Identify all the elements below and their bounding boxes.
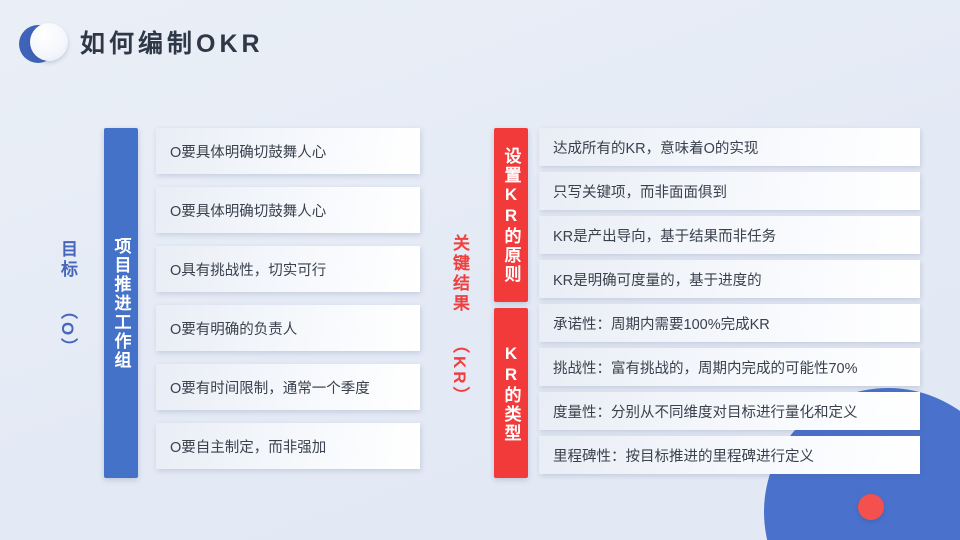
key-results-axis-label-paren: （KR） [450, 336, 469, 407]
objective-axis-label: 目标 （O） [52, 240, 82, 358]
objective-axis-label-paren: （O） [58, 302, 77, 358]
objective-band-label: 项目推进工作组 [109, 237, 134, 370]
list-item[interactable]: 只写关键项，而非面面俱到 [539, 172, 920, 210]
objective-band: 项目推进工作组 [104, 128, 138, 478]
logo-front-circle [30, 23, 68, 61]
list-item[interactable]: 挑战性：富有挑战的，周期内完成的可能性70% [539, 348, 920, 386]
objective-axis-label-text: 目标 [58, 240, 77, 280]
list-item[interactable]: O要有时间限制，通常一个季度 [156, 364, 420, 410]
list-item[interactable]: 度量性：分别从不同维度对目标进行量化和定义 [539, 392, 920, 430]
objective-item-list: O要具体明确切鼓舞人心 O要具体明确切鼓舞人心 O具有挑战性，切实可行 O要有明… [156, 128, 420, 469]
kr-types-band: KR的类型 [494, 308, 528, 478]
list-item[interactable]: 达成所有的KR，意味着O的实现 [539, 128, 920, 166]
slide-header: 如何编制OKR [0, 0, 960, 86]
list-item[interactable]: KR是产出导向，基于结果而非任务 [539, 216, 920, 254]
list-item[interactable]: 里程碑性：按目标推进的里程碑进行定义 [539, 436, 920, 474]
list-item[interactable]: O要有明确的负责人 [156, 305, 420, 351]
kr-principles-band-label: 设置KR的原则 [499, 147, 524, 284]
page-title: 如何编制OKR [80, 25, 264, 63]
key-results-item-list: 达成所有的KR，意味着O的实现 只写关键项，而非面面俱到 KR是产出导向，基于结… [539, 128, 920, 474]
corner-dot-decoration [858, 494, 884, 520]
kr-types-band-label: KR的类型 [499, 344, 524, 443]
list-item[interactable]: O要具体明确切鼓舞人心 [156, 187, 420, 233]
slide-root: 如何编制OKR 目标 （O） 项目推进工作组 O要具体明确切鼓舞人心 O要具体明… [0, 0, 960, 540]
list-item[interactable]: O具有挑战性，切实可行 [156, 246, 420, 292]
overlapping-circles-logo-icon [19, 23, 65, 65]
list-item[interactable]: KR是明确可度量的，基于进度的 [539, 260, 920, 298]
list-item[interactable]: 承诺性：周期内需要100%完成KR [539, 304, 920, 342]
list-item[interactable]: O要自主制定，而非强加 [156, 423, 420, 469]
key-results-axis-label-text: 关键结果 [450, 234, 469, 314]
key-results-axis-label: 关键结果 （KR） [444, 234, 474, 407]
kr-principles-band: 设置KR的原则 [494, 128, 528, 302]
list-item[interactable]: O要具体明确切鼓舞人心 [156, 128, 420, 174]
